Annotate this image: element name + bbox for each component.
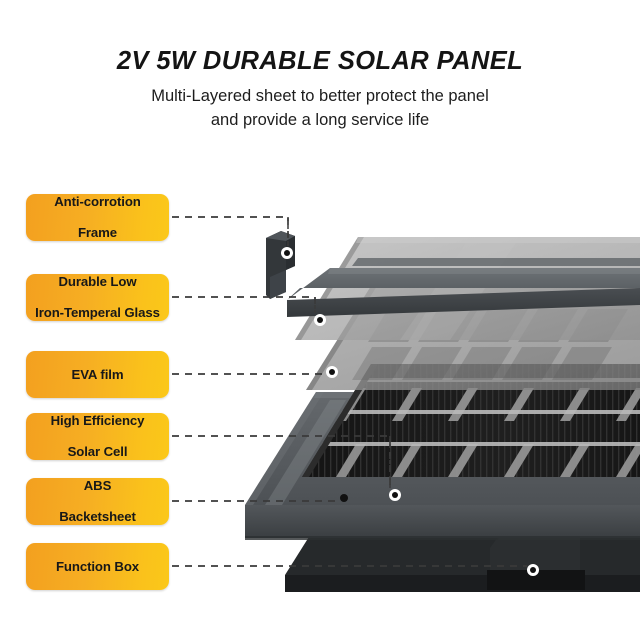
label-line-2: Solar Cell (51, 444, 145, 460)
label-line-2: Backetsheet (59, 509, 136, 525)
label-line-1: EVA film (72, 367, 124, 383)
layer-glass (295, 237, 640, 340)
dot-eva (326, 366, 338, 378)
label-line-2: Iron-Temperal Glass (35, 305, 160, 321)
label-high-efficiency-solar-cell[interactable]: High Efficiency Solar Cell (26, 413, 169, 460)
label-durable-low-iron-temperal-glass[interactable]: Durable Low Iron-Temperal Glass (26, 274, 169, 321)
dot-frame (281, 247, 293, 259)
label-eva-film[interactable]: EVA film (26, 351, 169, 398)
label-function-box[interactable]: Function Box (26, 543, 169, 590)
dot-glass (314, 314, 326, 326)
label-abs-backetsheet[interactable]: ABS Backetsheet (26, 478, 169, 525)
label-line-1: High Efficiency (51, 413, 145, 429)
label-line-1: ABS (59, 478, 136, 494)
dot-backsheet (340, 494, 348, 502)
infographic-canvas: 2V 5W DURABLE SOLAR PANEL Multi-Layered … (0, 0, 640, 640)
label-line-1: Durable Low (35, 274, 160, 290)
label-line-1: Anti-corrotion (54, 194, 141, 210)
dot-solar-cell (389, 489, 401, 501)
label-line-2: Frame (54, 225, 141, 241)
label-anti-corrosion-frame[interactable]: Anti-corrotion Frame (26, 194, 169, 241)
dot-function-box (527, 564, 539, 576)
label-line-1: Function Box (56, 559, 139, 575)
